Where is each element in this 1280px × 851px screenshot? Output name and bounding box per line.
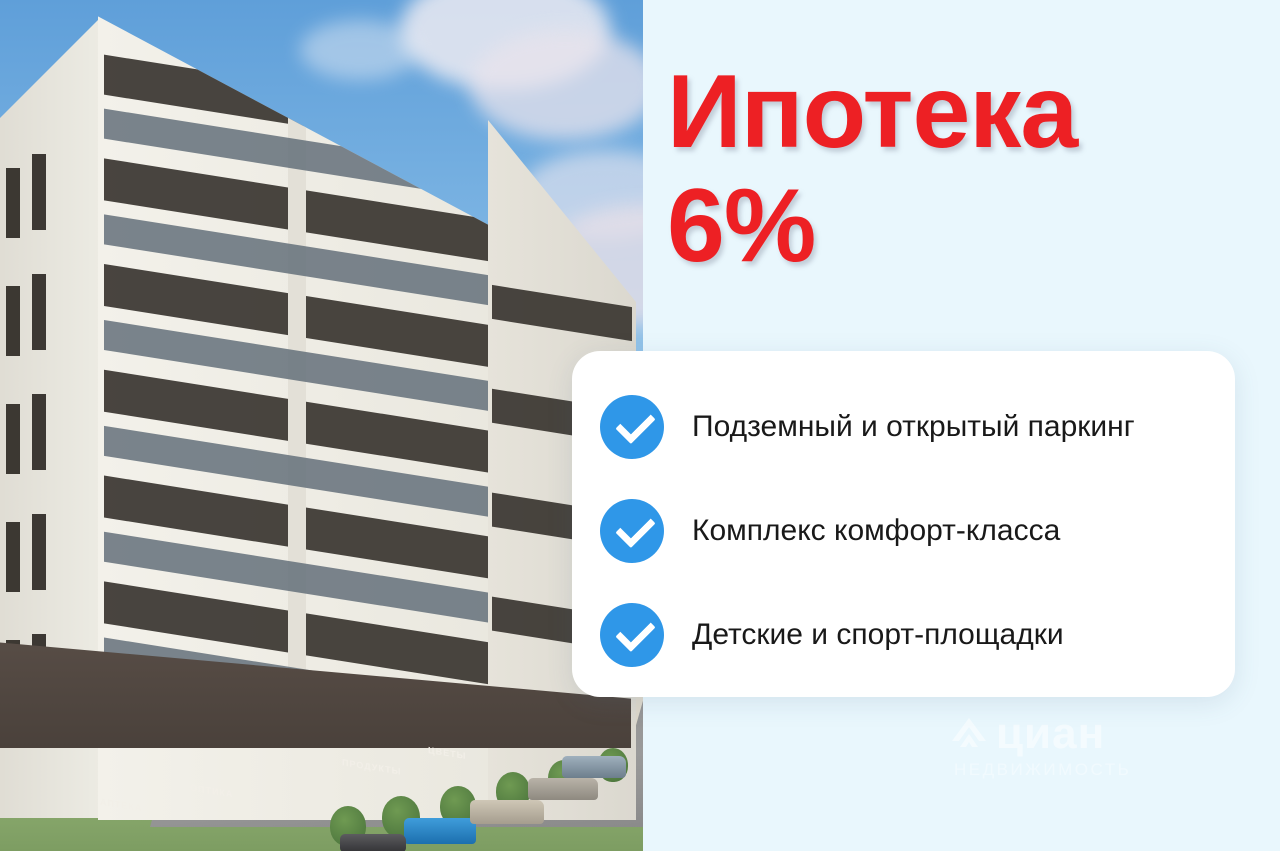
- real-estate-promo-banner: АПТЕКА ОПТИКА ПРОДУКТЫ ЦВЕТЫ Ипотека 6% …: [0, 0, 1280, 851]
- headline-line-2: 6%: [667, 176, 1267, 278]
- building-render-photo: АПТЕКА ОПТИКА ПРОДУКТЫ ЦВЕТЫ: [0, 0, 643, 851]
- check-circle-icon: [600, 603, 664, 667]
- feature-label: Подземный и открытый паркинг: [692, 410, 1135, 444]
- parked-car: [470, 800, 544, 824]
- feature-row: Детские и спорт-площадки: [600, 603, 1064, 667]
- parked-car: [340, 834, 406, 851]
- features-card: Подземный и открытый паркинг Комплекс ко…: [572, 351, 1235, 697]
- parked-car: [404, 818, 476, 844]
- feature-label: Комплекс комфорт-класса: [692, 514, 1060, 548]
- feature-row: Подземный и открытый паркинг: [600, 395, 1135, 459]
- apartment-building: [0, 0, 588, 820]
- parked-car: [562, 756, 626, 778]
- feature-row: Комплекс комфорт-класса: [600, 499, 1060, 563]
- cian-watermark: циан НЕДВИЖИМОСТЬ: [940, 712, 1180, 798]
- parked-car: [528, 778, 598, 800]
- cian-roof-icon: [948, 714, 990, 756]
- promo-headline: Ипотека 6%: [667, 62, 1267, 278]
- check-circle-icon: [600, 395, 664, 459]
- watermark-brand: циан: [996, 712, 1105, 756]
- feature-label: Детские и спорт-площадки: [692, 618, 1064, 652]
- headline-line-1: Ипотека: [667, 54, 1077, 170]
- check-circle-icon: [600, 499, 664, 563]
- watermark-tagline: НЕДВИЖИМОСТЬ: [954, 760, 1131, 780]
